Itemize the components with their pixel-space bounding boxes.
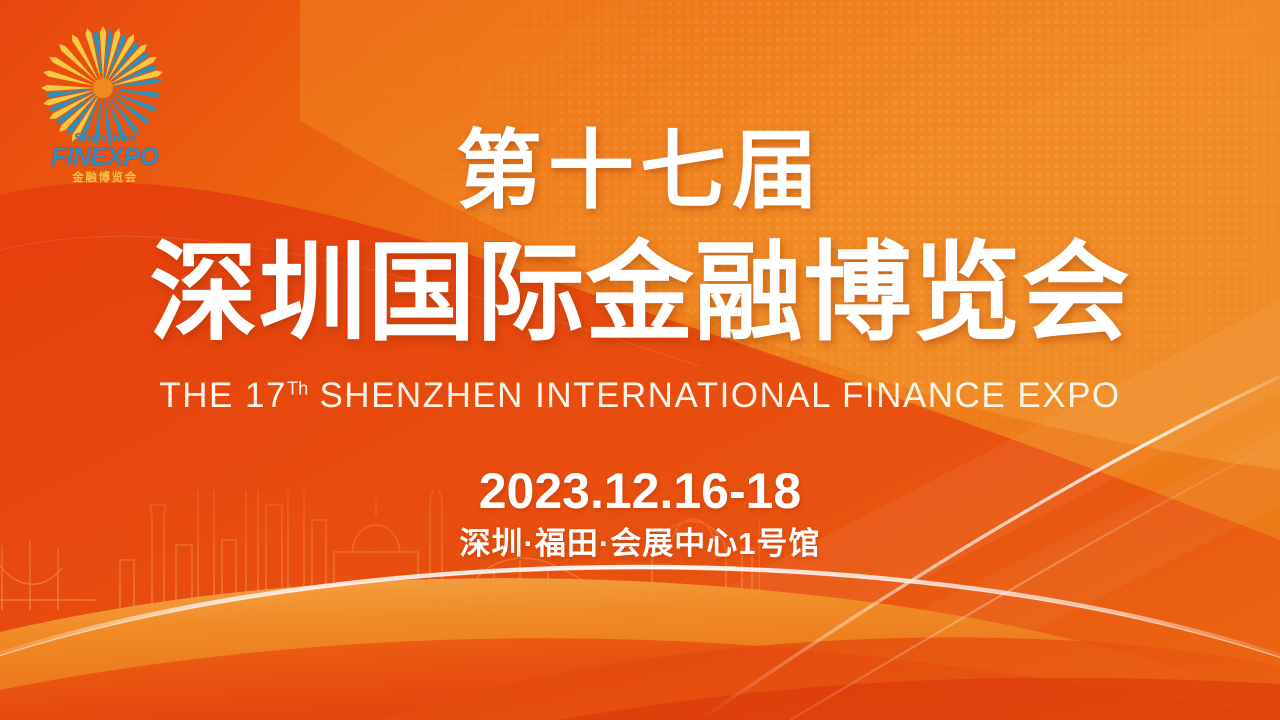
finexpo-logo-artwork: Shenzhen FINEXPO 金融博览会: [30, 22, 180, 187]
sunburst-icon: [41, 26, 164, 147]
finexpo-logo: Shenzhen FINEXPO 金融博览会: [30, 22, 180, 187]
expo-banner: Shenzhen FINEXPO 金融博览会 第十七届 深圳国际金融博览会 TH…: [0, 0, 1280, 720]
background-artwork: [0, 0, 1280, 720]
sunburst-core: [93, 78, 113, 98]
logo-finexpo-text: FINEXPO: [51, 143, 159, 171]
logo-chinese-subtext: 金融博览会: [71, 170, 138, 184]
